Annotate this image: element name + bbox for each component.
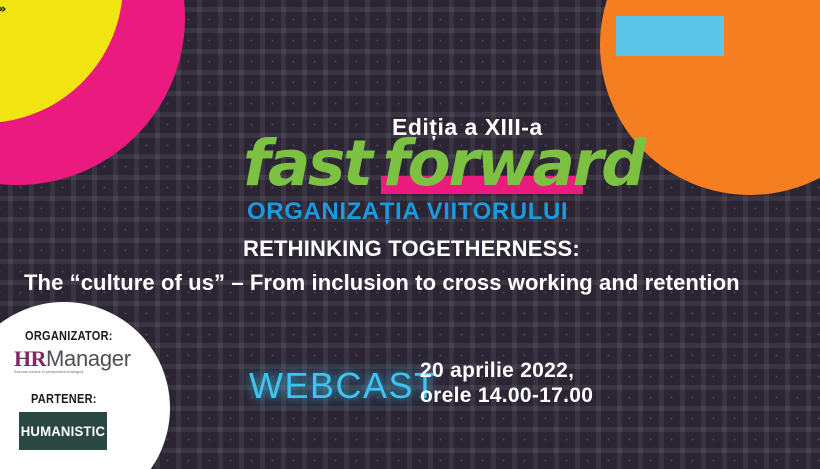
brand-word-forward: forward (383, 133, 644, 195)
event-poster: »»»»»»»»»»»»»»»»»»»»»»»»»»»»»»»»»»»»»»»»… (0, 0, 820, 469)
partner-logo-text: HUMANISTIC (21, 423, 105, 439)
yellow-circle-decoration: »»»»»»»»»»»»»»»»»»»»»»»»»»»»»»»»»»»»»»»»… (0, 0, 123, 123)
theme-line-primary: RETHINKING TOGETHERNESS: (243, 236, 580, 262)
brand-word-fast: fast (243, 133, 371, 195)
partner-label: PARTENER: (31, 392, 97, 406)
organizer-logo: HRManager Resurse umane în perspectivă s… (14, 348, 131, 375)
event-datetime: 20 aprilie 2022, orele 14.00-17.00 (420, 358, 593, 408)
brand-logo: fast forward (243, 133, 644, 195)
organizer-logo-hr: HR (14, 346, 46, 371)
organizer-logo-tagline: Resurse umane în perspectivă strategică (14, 371, 131, 375)
poster-subtitle: ORGANIZAȚIA VIITORULUI (247, 198, 568, 226)
event-date: 20 aprilie 2022, (420, 358, 593, 383)
blue-rectangle-decoration (616, 16, 724, 56)
organizer-label: ORGANIZATOR: (25, 329, 113, 343)
partner-logo: HUMANISTIC (19, 412, 107, 450)
chevron-icon: » (0, 1, 16, 19)
chevron-pattern: »»»»»»»»»»»»»»»»»»»»»»»»»»»»»»»»»»»»»»»»… (0, 0, 123, 123)
format-label: WEBCAST (249, 365, 438, 407)
organizer-logo-manager: Manager (46, 346, 131, 371)
theme-line-secondary: The “culture of us” – From inclusion to … (24, 270, 740, 296)
event-time: orele 14.00-17.00 (420, 383, 593, 408)
